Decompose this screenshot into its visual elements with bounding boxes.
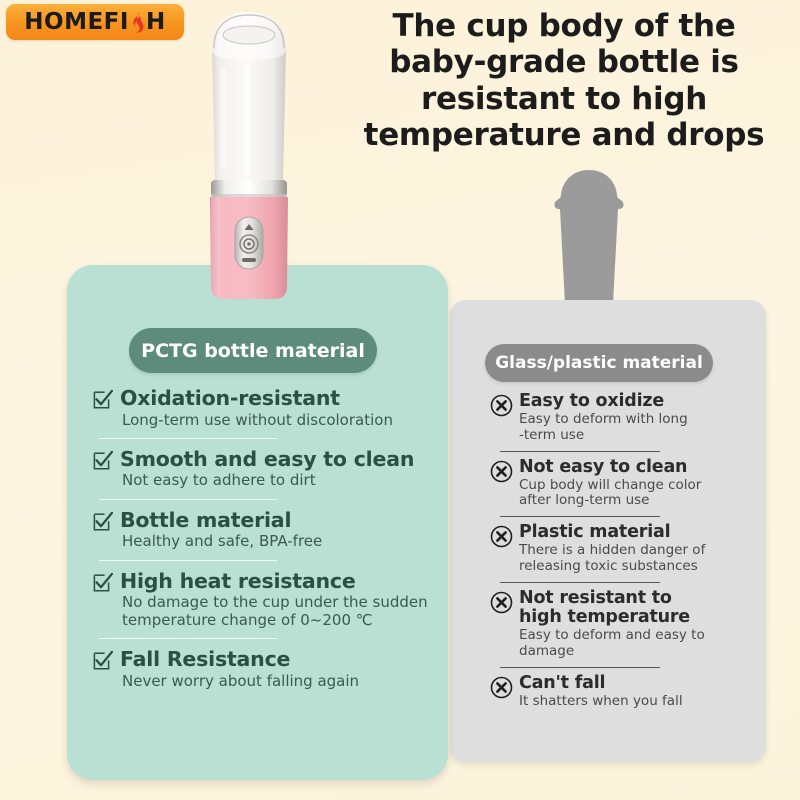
list-item-body: Not easy to clean Cup body will change c…: [519, 458, 758, 510]
list-item-body: Can't fall It shatters when you fall: [519, 674, 758, 710]
list-item-subtitle: Cup body will change color after long-te…: [519, 478, 758, 509]
title-line: Not easy to clean: [519, 458, 758, 477]
page-title: The cup body of the baby-grade bottle is…: [354, 8, 774, 153]
title-line: Easy to oxidize: [519, 392, 758, 411]
list-divider: [500, 516, 660, 517]
list-item-subtitle: Long-term use without discoloration: [120, 412, 443, 429]
subtitle-line: Easy to deform with long: [519, 412, 758, 428]
subtitle-line: -term use: [519, 428, 758, 444]
product-image-portable-blender: [190, 4, 308, 301]
list-item-subtitle: It shatters when you fall: [519, 694, 758, 710]
list-item-title: Not easy to clean: [519, 458, 758, 477]
subtitle-line: releasing toxic substances: [519, 559, 758, 575]
glass-plastic-panel: Glass/plastic material Easy to oxidize E…: [450, 300, 766, 762]
list-item-subtitle: Easy to deform with long -term use: [519, 412, 758, 443]
pctg-badge-label: PCTG bottle material: [141, 340, 365, 362]
list-item-body: High heat resistance No damage to the cu…: [120, 570, 443, 629]
subtitle-line: No damage to the cup under the sudden: [122, 594, 443, 611]
circle-cross-icon: [490, 591, 513, 619]
subtitle-line: after long-term use: [519, 493, 758, 509]
circle-cross-icon: [490, 676, 513, 704]
subtitle-line: Cup body will change color: [519, 478, 758, 494]
pctg-list: Oxidation-resistant Long-term use withou…: [93, 387, 443, 690]
list-item-title: Plastic material: [519, 523, 758, 542]
list-item: Fall Resistance Never worry about fallin…: [93, 648, 443, 690]
brand-name-part-2: OMEFI: [44, 11, 129, 34]
list-divider: [99, 499, 277, 500]
headline-line-1: The cup body of the: [354, 8, 774, 44]
list-item-subtitle: Not easy to adhere to dirt: [120, 472, 443, 489]
headline-line-2: baby-grade bottle is: [354, 44, 774, 80]
list-item-title: High heat resistance: [120, 570, 443, 593]
list-item: High heat resistance No damage to the cu…: [93, 570, 443, 629]
subtitle-line: Not easy to adhere to dirt: [122, 472, 443, 489]
list-divider: [500, 451, 660, 452]
brand-name-part-3: H: [146, 11, 166, 34]
infographic-canvas: HOMEFIH The cup body of the baby-grade b…: [0, 0, 800, 800]
glass-plastic-list: Easy to oxidize Easy to deform with long…: [490, 392, 758, 709]
list-item-title: Oxidation-resistant: [120, 387, 443, 410]
check-box-icon: [93, 651, 113, 676]
subtitle-line: Long-term use without discoloration: [122, 412, 443, 429]
check-box-icon: [93, 390, 113, 415]
list-item-title: Smooth and easy to clean: [120, 448, 443, 471]
list-item: Easy to oxidize Easy to deform with long…: [490, 392, 758, 444]
list-item: Smooth and easy to clean Not easy to adh…: [93, 448, 443, 490]
check-box-icon: [93, 451, 113, 476]
flame-fish-icon: [130, 11, 145, 34]
headline-line-4: temperature and drops: [354, 117, 774, 153]
subtitle-line: Healthy and safe, BPA-free: [122, 533, 443, 550]
title-line: Not resistant to: [519, 589, 758, 608]
list-item-body: Not resistant to high temperature Easy t…: [519, 589, 758, 660]
list-item: Can't fall It shatters when you fall: [490, 674, 758, 710]
list-item-body: Bottle material Healthy and safe, BPA-fr…: [120, 509, 443, 551]
list-item-title: Can't fall: [519, 674, 758, 693]
check-box-icon: [93, 573, 113, 598]
pctg-panel: PCTG bottle material Oxidation-resistant…: [67, 265, 448, 780]
subtitle-line: damage: [519, 644, 758, 660]
list-item: Not easy to clean Cup body will change c…: [490, 458, 758, 510]
title-line: Plastic material: [519, 523, 758, 542]
glass-plastic-badge: Glass/plastic material: [485, 344, 713, 382]
list-item-body: Oxidation-resistant Long-term use withou…: [120, 387, 443, 429]
subtitle-line: Never worry about falling again: [122, 673, 443, 690]
check-box-icon: [93, 512, 113, 537]
list-item: Plastic material There is a hidden dange…: [490, 523, 758, 575]
subtitle-line: It shatters when you fall: [519, 694, 758, 710]
title-line: high temperature: [519, 608, 758, 627]
brand-wordmark: HOMEFIH: [24, 11, 165, 34]
brand-logo: HOMEFIH: [6, 4, 184, 40]
list-divider: [99, 638, 277, 639]
list-item-body: Plastic material There is a hidden dange…: [519, 523, 758, 575]
circle-cross-icon: [490, 394, 513, 422]
headline-line-3: resistant to high: [354, 81, 774, 117]
list-item-body: Smooth and easy to clean Not easy to adh…: [120, 448, 443, 490]
list-item: Not resistant to high temperature Easy t…: [490, 589, 758, 660]
list-item: Bottle material Healthy and safe, BPA-fr…: [93, 509, 443, 551]
list-divider: [500, 667, 660, 668]
subtitle-line: There is a hidden danger of: [519, 543, 758, 559]
list-item: Oxidation-resistant Long-term use withou…: [93, 387, 443, 429]
list-item-subtitle: No damage to the cup under the sudden te…: [120, 594, 443, 629]
list-divider: [99, 438, 277, 439]
glass-plastic-badge-label: Glass/plastic material: [495, 353, 703, 373]
list-item-body: Fall Resistance Never worry about fallin…: [120, 648, 443, 690]
list-divider: [99, 560, 277, 561]
subtitle-line: temperature change of 0~200 ℃: [122, 612, 443, 629]
circle-cross-icon: [490, 460, 513, 488]
subtitle-line: Easy to deform and easy to: [519, 628, 758, 644]
title-line: Can't fall: [519, 674, 758, 693]
list-item-title: Fall Resistance: [120, 648, 443, 671]
list-item-title: Easy to oxidize: [519, 392, 758, 411]
list-item-title: Not resistant to high temperature: [519, 589, 758, 628]
list-item-subtitle: There is a hidden danger of releasing to…: [519, 543, 758, 574]
pctg-badge: PCTG bottle material: [129, 328, 377, 373]
circle-cross-icon: [490, 525, 513, 553]
list-item-subtitle: Never worry about falling again: [120, 673, 443, 690]
list-item-subtitle: Healthy and safe, BPA-free: [120, 533, 443, 550]
list-divider: [500, 582, 660, 583]
brand-name-part-1: H: [24, 11, 44, 34]
list-item-body: Easy to oxidize Easy to deform with long…: [519, 392, 758, 444]
list-item-title: Bottle material: [120, 509, 443, 532]
list-item-subtitle: Easy to deform and easy to damage: [519, 628, 758, 659]
